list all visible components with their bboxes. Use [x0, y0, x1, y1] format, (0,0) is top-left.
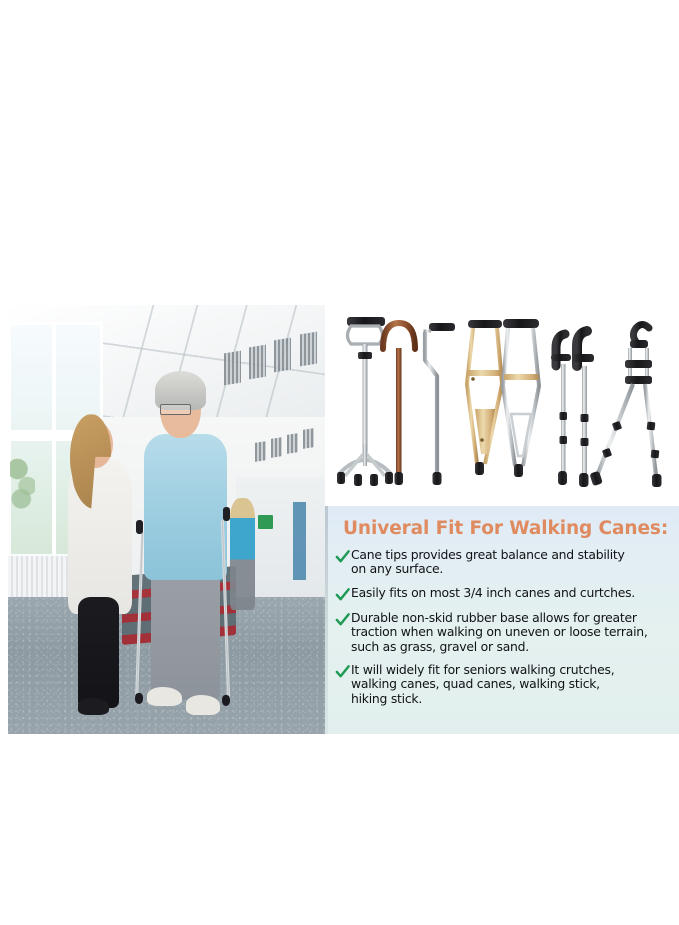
photo-foliage — [10, 435, 35, 520]
check-icon — [335, 664, 350, 679]
photo-patient-shoe — [186, 695, 221, 714]
feature-text: Easily fits on most 3/4 inch canes and c… — [351, 586, 635, 600]
photo-wall-vent — [303, 429, 314, 450]
photo-caregiver-legs — [78, 597, 119, 709]
panel-left-edge — [325, 506, 328, 734]
photo-wall-vent — [271, 437, 282, 458]
photo-patient-shoe — [147, 687, 182, 706]
photo-patient-pants — [151, 567, 221, 700]
check-icon — [335, 587, 350, 602]
photo-blue-door — [293, 502, 306, 579]
feature-text: Cane tips provides great balance and sta… — [351, 548, 625, 577]
photo-patient-glasses — [160, 404, 191, 415]
product-lineup-image — [325, 304, 679, 500]
feature-text: It will widely fit for seniors walking c… — [351, 663, 614, 706]
check-icon — [335, 549, 350, 564]
feature-item: Cane tips provides great balance and sta… — [335, 548, 673, 577]
photo-ceiling-vent — [249, 344, 266, 379]
photo-caregiver-shoe — [78, 698, 110, 715]
lifestyle-photo — [8, 305, 325, 734]
photo-crutch-grip — [136, 520, 143, 534]
photo-exit-sign — [258, 515, 272, 529]
feature-item: It will widely fit for seniors walking c… — [335, 663, 673, 706]
photo-background-person — [230, 498, 255, 610]
photo-ceiling-vent — [224, 351, 241, 386]
feature-item: Durable non-skid rubber base allows for … — [335, 611, 673, 654]
photo-ceiling-vent — [274, 338, 291, 373]
page-canvas: Univeral Fit For Walking Canes: Cane tip… — [0, 0, 679, 925]
photo-crutch-tip — [222, 695, 230, 706]
photo-wall-vent — [255, 441, 266, 462]
feature-item: Easily fits on most 3/4 inch canes and c… — [335, 586, 673, 602]
check-icon — [335, 612, 350, 627]
photo-patient-shirt — [144, 434, 226, 580]
photo-crutch-tip — [135, 693, 143, 704]
photo-ceiling-vent — [300, 331, 317, 366]
photo-wall-vent — [287, 433, 298, 454]
panel-title: Univeral Fit For Walking Canes: — [343, 518, 673, 539]
feature-text: Durable non-skid rubber base allows for … — [351, 611, 648, 654]
features-panel: Univeral Fit For Walking Canes: Cane tip… — [325, 506, 679, 734]
photo-crutch-grip — [223, 507, 230, 521]
